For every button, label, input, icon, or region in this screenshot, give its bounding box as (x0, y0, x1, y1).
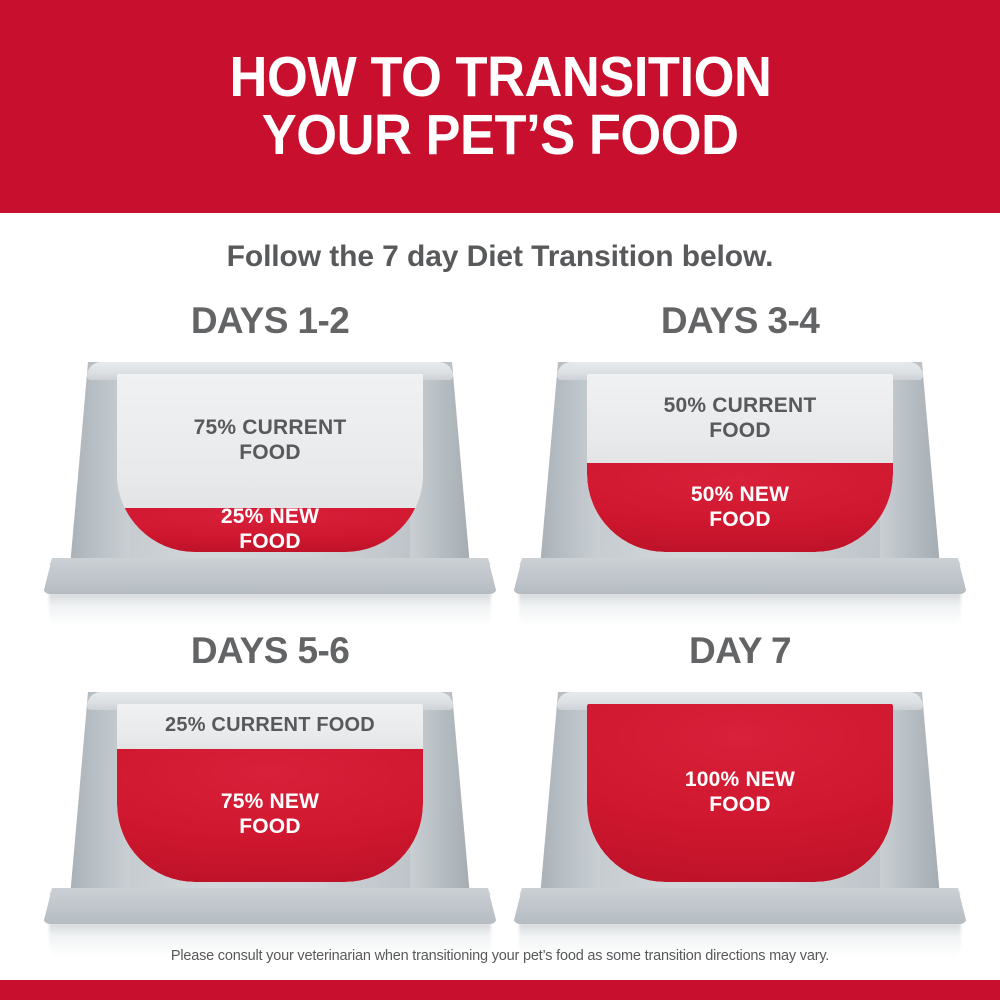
step-title: DAYS 5-6 (35, 630, 505, 672)
header-title-line2: YOUR PET’S FOOD (262, 108, 739, 164)
new-food-label: 100% NEWFOOD (677, 768, 803, 818)
current-food-portion: 25% CURRENT FOOD (117, 704, 423, 749)
step-title: DAYS 3-4 (505, 300, 975, 342)
footer-accent-bar (0, 980, 1000, 1000)
transition-step-days-1-2: DAYS 1-2 75% CURRENTFOOD 25% NEWFOOD (35, 300, 505, 620)
step-title: DAY 7 (505, 630, 975, 672)
new-food-portion: 25% NEWFOOD (117, 508, 423, 553)
bowl-contents: 50% CURRENTFOOD 50% NEWFOOD (587, 374, 893, 552)
bowl-base (43, 888, 497, 924)
current-food-portion: 50% CURRENTFOOD (587, 374, 893, 463)
new-food-portion: 75% NEWFOOD (117, 749, 423, 883)
header-title-line1: HOW TO TRANSITION (229, 50, 771, 106)
new-food-label: 75% NEWFOOD (213, 790, 327, 840)
current-food-label: 25% CURRENT FOOD (157, 714, 383, 738)
pet-food-bowl: 75% CURRENTFOOD 25% NEWFOOD (35, 362, 505, 620)
subtitle: Follow the 7 day Diet Transition below. (0, 240, 1000, 274)
new-food-portion: 50% NEWFOOD (587, 463, 893, 552)
bowl-base (513, 888, 967, 924)
bowl-base (513, 558, 967, 594)
pet-food-bowl: 50% CURRENTFOOD 50% NEWFOOD (505, 362, 975, 620)
bowl-contents: 25% CURRENT FOOD 75% NEWFOOD (117, 704, 423, 882)
new-food-label: 25% NEWFOOD (213, 505, 327, 552)
new-food-label: 50% NEWFOOD (683, 483, 797, 533)
pet-food-bowl: 25% CURRENT FOOD 75% NEWFOOD (35, 692, 505, 950)
bowl-contents: 75% CURRENTFOOD 25% NEWFOOD (117, 374, 423, 552)
transition-steps-grid: DAYS 1-2 75% CURRENTFOOD 25% NEWFOOD (0, 300, 1000, 940)
step-title: DAYS 1-2 (35, 300, 505, 342)
transition-step-day-7: DAY 7 100% NEWFOOD (505, 630, 975, 950)
bowl-contents: 100% NEWFOOD (587, 704, 893, 882)
infographic-page: HOW TO TRANSITION YOUR PET’S FOOD Follow… (0, 0, 1000, 1000)
current-food-label: 50% CURRENTFOOD (656, 394, 825, 444)
header-banner: HOW TO TRANSITION YOUR PET’S FOOD (0, 0, 1000, 213)
footer-disclaimer: Please consult your veterinarian when tr… (0, 948, 1000, 964)
new-food-portion: 100% NEWFOOD (587, 704, 893, 882)
current-food-label: 75% CURRENTFOOD (186, 416, 355, 466)
current-food-portion: 75% CURRENTFOOD (117, 374, 423, 508)
transition-step-days-3-4: DAYS 3-4 50% CURRENTFOOD 50% NEWFOOD (505, 300, 975, 620)
pet-food-bowl: 100% NEWFOOD (505, 692, 975, 950)
bowl-reflection (519, 593, 961, 627)
bowl-base (43, 558, 497, 594)
bowl-reflection (49, 593, 491, 627)
transition-step-days-5-6: DAYS 5-6 25% CURRENT FOOD 75% NEWFOOD (35, 630, 505, 950)
